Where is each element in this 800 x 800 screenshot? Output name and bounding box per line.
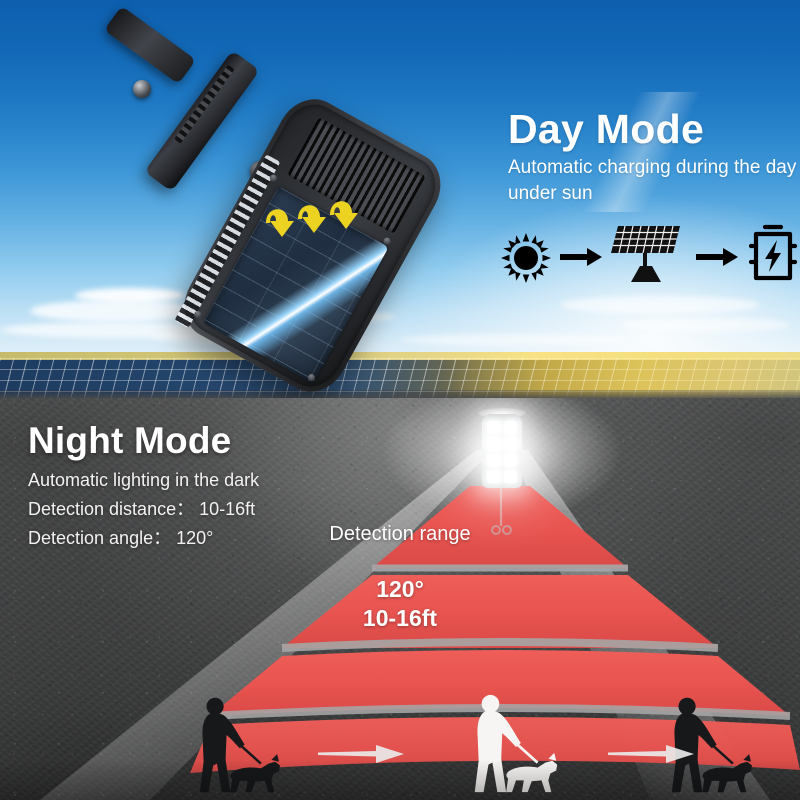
cloud: [150, 330, 350, 344]
led-cell: [504, 454, 518, 467]
motion-arrow-right: [608, 744, 694, 764]
person-walking-dog-center: [452, 690, 576, 798]
detection-distance-value: 10-16ft: [0, 604, 800, 633]
sun-icon: [500, 232, 552, 284]
person-walking-dog-left: [178, 693, 298, 798]
night-mode-section: Detection range 120° 10-16ft Night Mode …: [0, 398, 800, 800]
detection-angle-value: 120°: [0, 575, 800, 604]
cloud: [560, 296, 760, 314]
solar-panel-icon: [610, 222, 684, 286]
led-cell: [504, 421, 518, 434]
led-cell: [487, 421, 501, 434]
led-cell: [487, 454, 501, 467]
day-charging-flow: [500, 218, 770, 288]
day-mode-subtitle: Automatic charging during the day under …: [508, 155, 800, 207]
led-cell: [504, 437, 518, 450]
night-spec-line: Detection angle： 120°: [28, 524, 388, 553]
night-spec-line: Automatic lighting in the dark: [28, 466, 388, 495]
arrow-right-icon: [696, 248, 738, 266]
led-cell: [487, 437, 501, 450]
solar-farm-ground: [0, 352, 800, 400]
cloud: [30, 300, 205, 322]
arrow-right-icon: [560, 248, 602, 266]
detection-specs: 120° 10-16ft: [0, 575, 800, 633]
day-mode-section: Day Mode Automatic charging during the d…: [0, 0, 800, 400]
infographic-canvas: Day Mode Automatic charging during the d…: [0, 0, 800, 800]
led-lamp-head: [482, 414, 522, 488]
led-cell: [487, 470, 501, 483]
cloud: [400, 334, 630, 346]
battery-charging-icon: [748, 222, 798, 284]
night-mode-specs: Automatic lighting in the dark Detection…: [28, 466, 388, 553]
cloud: [75, 288, 185, 303]
night-spec-line: Detection distance： 10-16ft: [28, 495, 388, 524]
motion-arrow-left: [318, 744, 404, 764]
led-grid: [487, 421, 517, 483]
day-mode-title: Day Mode: [508, 106, 704, 153]
led-cell: [504, 470, 518, 483]
night-mode-title: Night Mode: [28, 420, 231, 462]
cloud: [245, 310, 395, 323]
cloud: [620, 318, 790, 332]
